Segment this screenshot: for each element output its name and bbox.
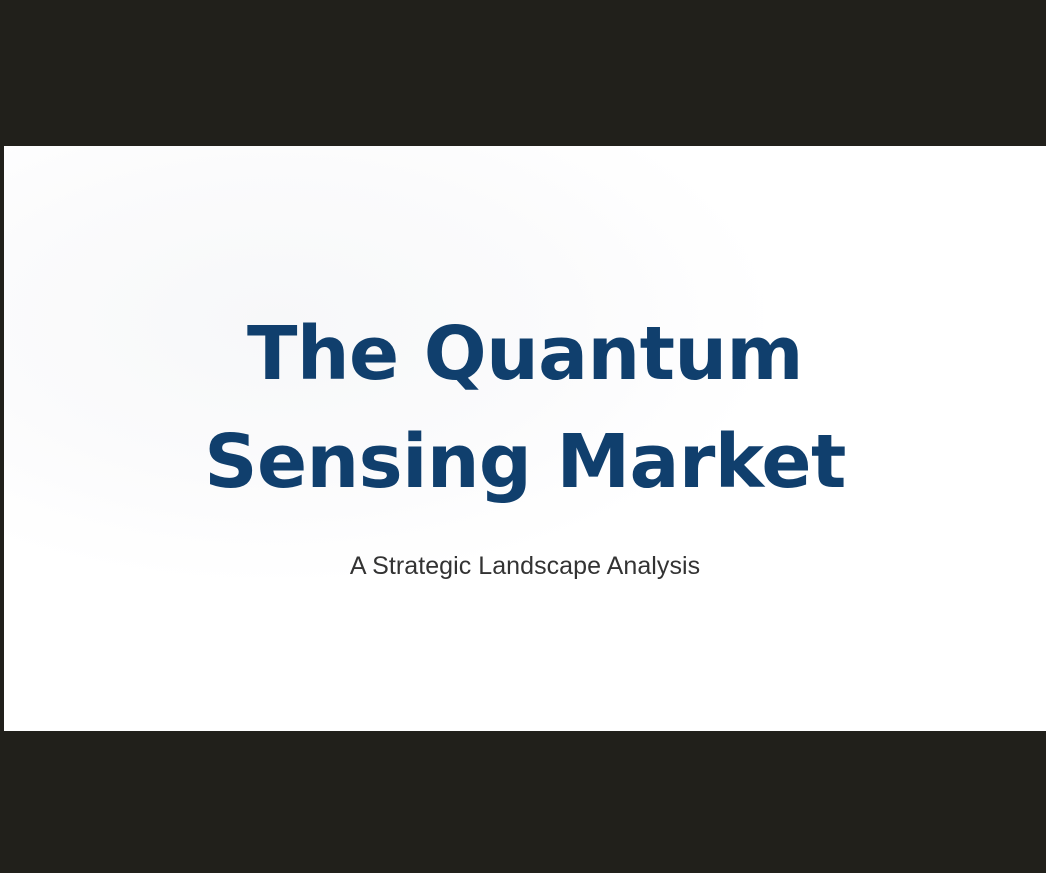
slide-left-edge-rail — [0, 146, 4, 731]
presentation-viewer: The Quantum Sensing Market A Strategic L… — [0, 0, 1046, 873]
slide-content: The Quantum Sensing Market A Strategic L… — [4, 146, 1046, 731]
title-slide: The Quantum Sensing Market A Strategic L… — [4, 146, 1046, 731]
slide-title: The Quantum Sensing Market — [35, 300, 1015, 516]
slide-subtitle: A Strategic Landscape Analysis — [290, 550, 760, 584]
